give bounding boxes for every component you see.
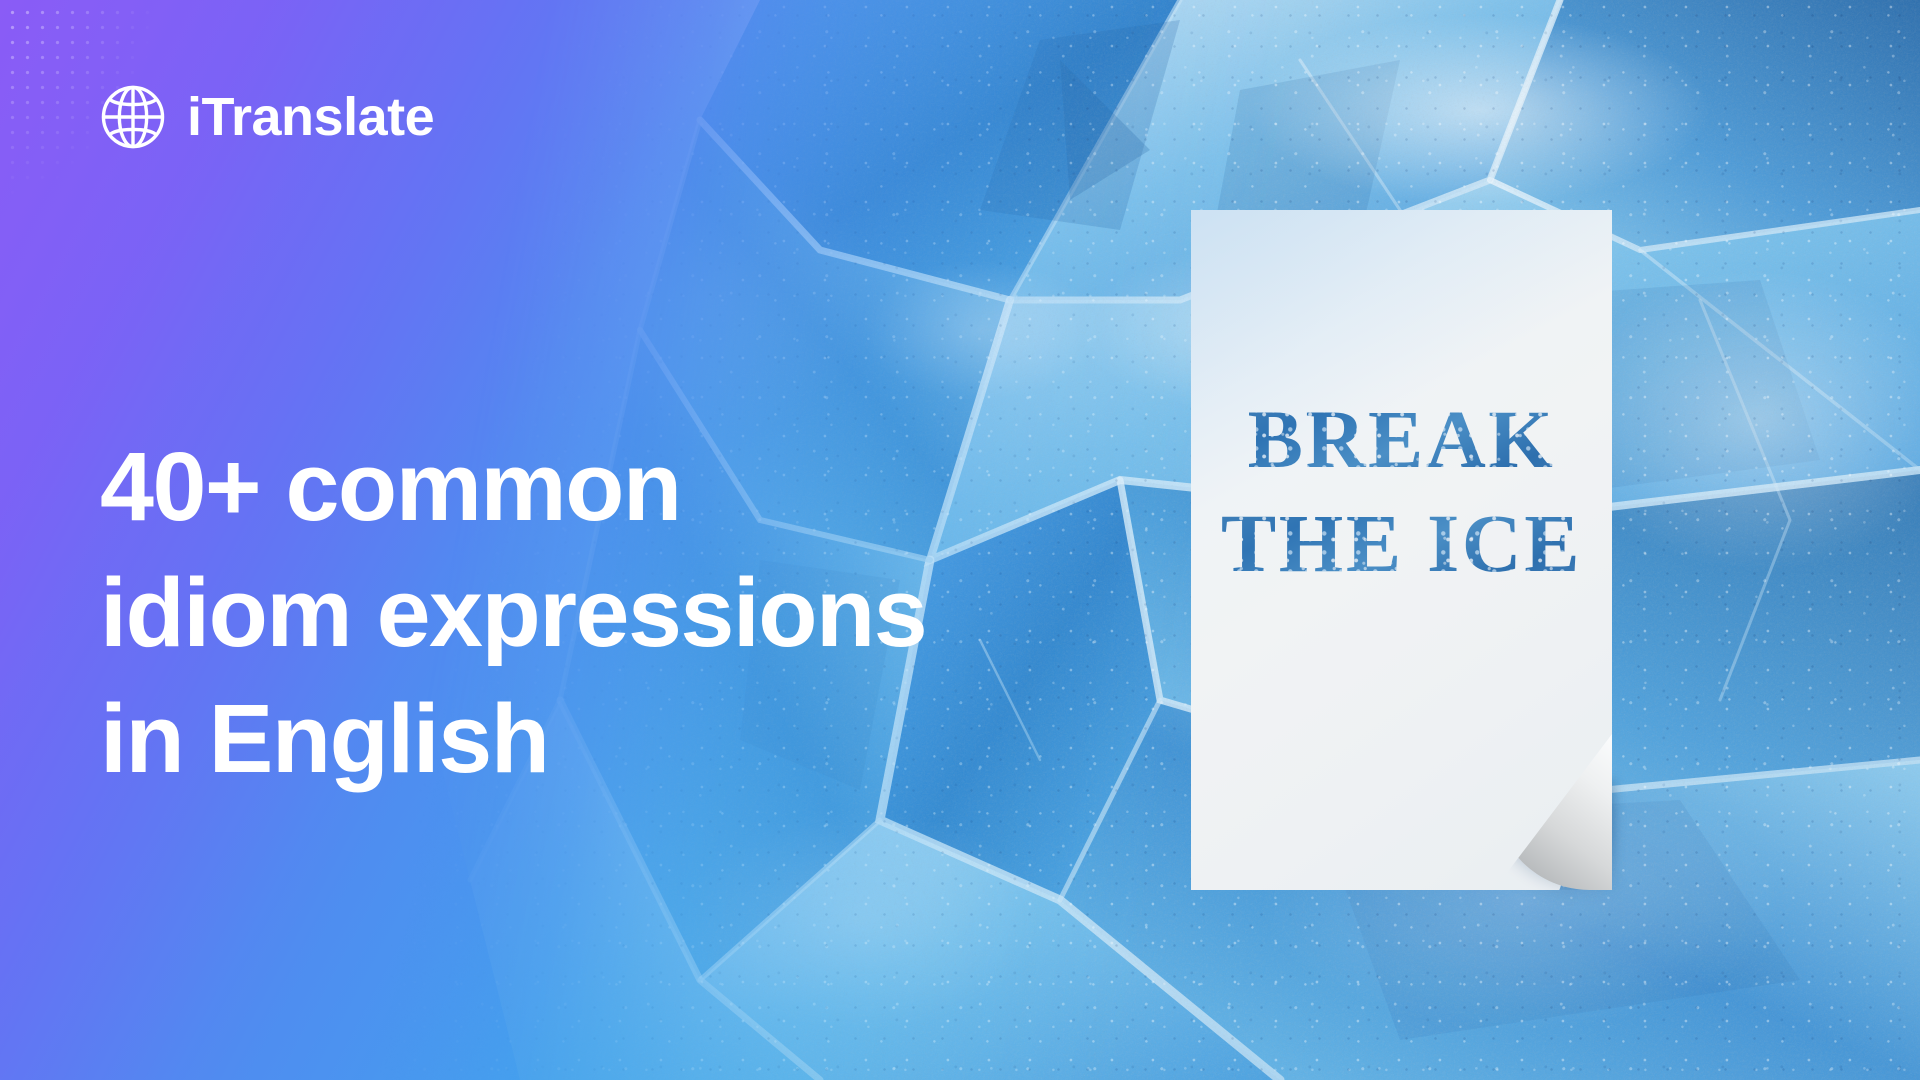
brand-name: iTranslate (187, 90, 434, 144)
globe-icon (98, 82, 168, 152)
banner-canvas: iTranslate 40+ common idiom expressions … (0, 0, 1920, 1080)
headline-line-1: 40+ common (100, 424, 1120, 550)
headline-line-2: idiom expressions (100, 550, 1120, 676)
page-title: 40+ common idiom expressions in English (100, 424, 1120, 802)
brand-logo[interactable]: iTranslate (98, 82, 434, 152)
idiom-card: BREAK THE ICE (1191, 210, 1612, 890)
card-text-line-1: BREAK (1191, 388, 1612, 492)
card-text-line-2: THE ICE (1191, 492, 1612, 596)
card-idiom-text: BREAK THE ICE (1191, 388, 1612, 596)
headline-line-3: in English (100, 676, 1120, 802)
